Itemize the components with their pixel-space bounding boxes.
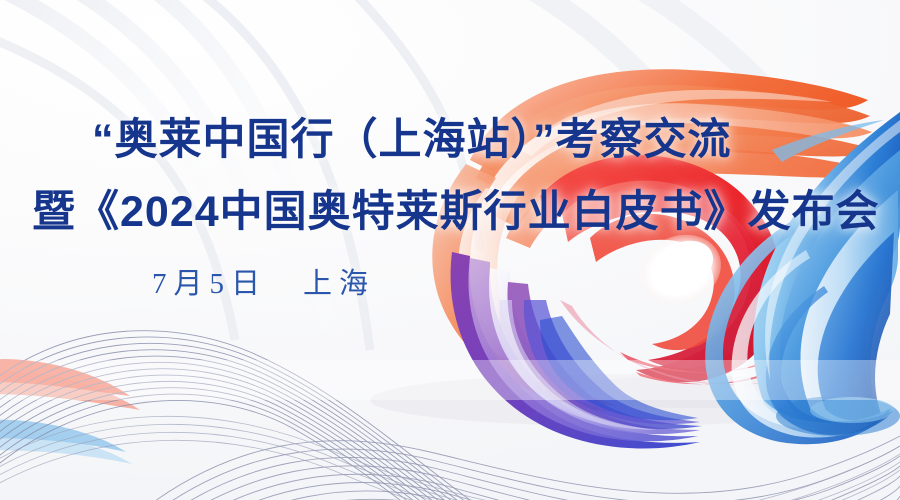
poster-canvas: “奥莱中国行（上海站）”考察交流 暨《2024中国奥特莱斯行业白皮书》发布会 7…: [0, 0, 900, 500]
thin-line-wave-pattern: [0, 0, 900, 500]
